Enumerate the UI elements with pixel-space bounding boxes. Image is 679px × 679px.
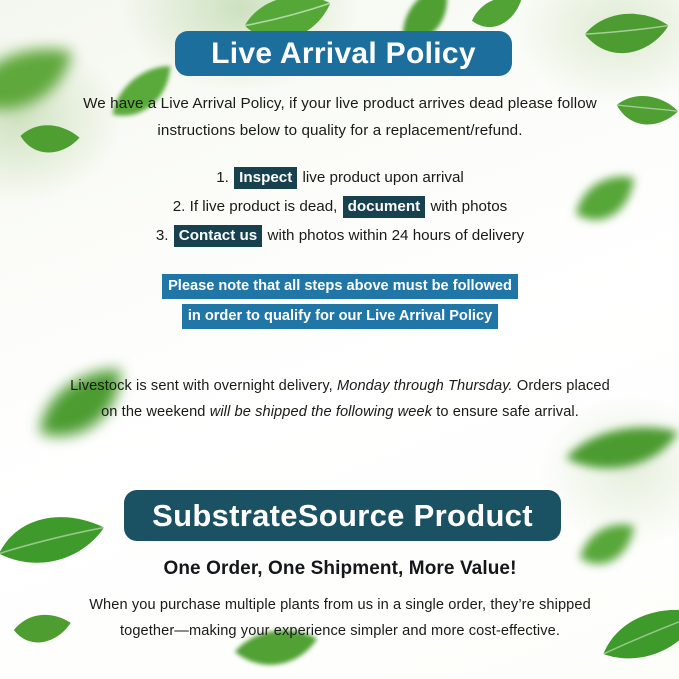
shipping-line2-italic: will be shipped the following week (210, 404, 432, 420)
step-highlight-document: document (343, 196, 426, 218)
step-highlight-contact-us: Contact us (174, 225, 262, 247)
live-arrival-policy-title: Live Arrival Policy (211, 37, 476, 71)
step-highlight-inspect: Inspect (234, 167, 297, 189)
content-layer: Live Arrival Policy We have a Live Arriv… (0, 0, 679, 679)
policy-note-line: Please note that all steps above must be… (40, 273, 640, 299)
step-text-before: If live product is dead, (190, 198, 338, 215)
value-heading: One Order, One Shipment, More Value! (60, 558, 620, 580)
intro-lead: We have a Live Arrival Policy (83, 95, 280, 112)
step-text: with photos (430, 198, 507, 215)
policy-note-text: in order to qualify for our Live Arrival… (182, 304, 498, 329)
list-item: 3. Contact us with photos within 24 hour… (40, 221, 640, 250)
shipping-line3: to ensure safe arrival. (436, 404, 579, 420)
step-number: 2. (173, 198, 186, 215)
infographic-page: Live Arrival Policy We have a Live Arriv… (0, 0, 679, 679)
steps-list: 1. Inspect live product upon arrival 2. … (40, 163, 640, 250)
live-arrival-policy-banner: Live Arrival Policy (175, 31, 512, 76)
shipping-paragraph: Livestock is sent with overnight deliver… (60, 373, 620, 425)
shipping-line1-plain: Livestock is sent with overnight deliver… (70, 378, 333, 394)
policy-note-line: in order to qualify for our Live Arrival… (40, 303, 640, 329)
policy-note-text: Please note that all steps above must be… (162, 274, 518, 299)
step-number: 3. (156, 227, 169, 244)
step-number: 1. (216, 169, 229, 186)
intro-paragraph: We have a Live Arrival Policy, if your l… (60, 90, 620, 144)
step-text: live product upon arrival (303, 169, 464, 186)
step-text: with photos within 24 hours of delivery (267, 227, 524, 244)
substratesource-product-banner: SubstrateSource Product (124, 490, 561, 541)
value-paragraph: When you purchase multiple plants from u… (60, 592, 620, 644)
list-item: 1. Inspect live product upon arrival (40, 163, 640, 192)
policy-note: Please note that all steps above must be… (40, 273, 640, 329)
shipping-line1-italic: Monday through Thursday. (337, 378, 513, 394)
list-item: 2. If live product is dead, document wit… (40, 192, 640, 221)
substratesource-product-title: SubstrateSource Product (152, 498, 533, 534)
